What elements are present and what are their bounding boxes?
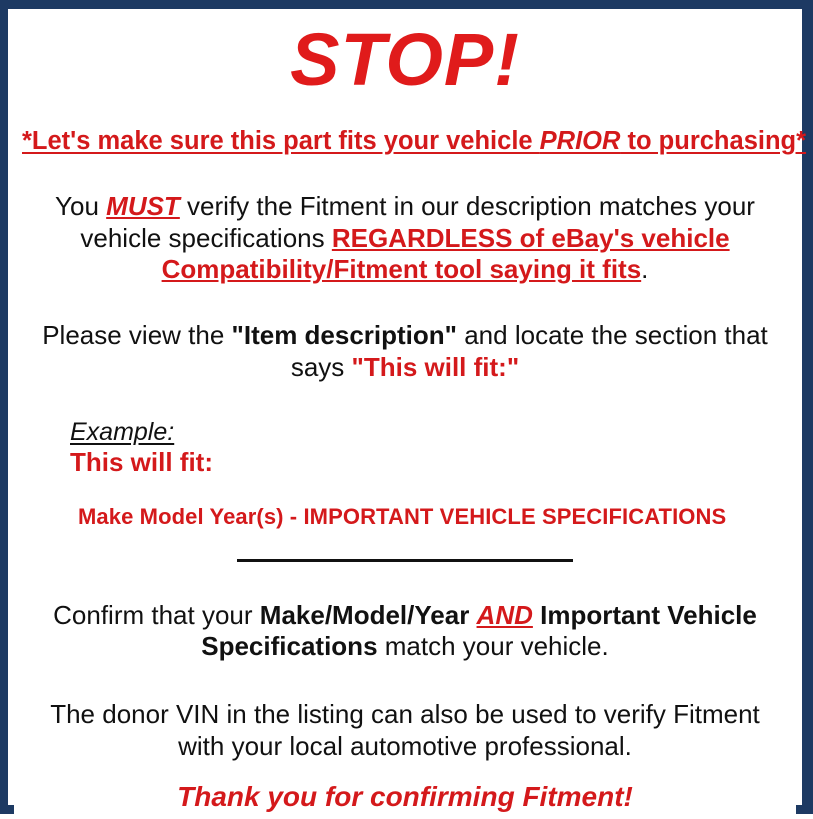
- example-spec-line: Make Model Year(s) - IMPORTANT VEHICLE S…: [78, 504, 788, 529]
- example-block: Example: This will fit: Make Model Year(…: [22, 418, 788, 530]
- paragraph-must-verify: You MUST verify the Fitment in our descr…: [22, 191, 788, 286]
- example-fit-heading: This will fit:: [70, 448, 788, 478]
- and-emphasis: AND: [477, 600, 533, 630]
- stop-headline: STOP!: [22, 23, 788, 97]
- confirm-text-part1: Confirm that your: [53, 600, 260, 630]
- must-text-part3: .: [641, 254, 648, 284]
- item-description-emphasis: "Item description": [232, 320, 457, 350]
- paragraph-confirm: Confirm that your Make/Model/Year AND Im…: [22, 600, 788, 663]
- subtitle-prefix: *Let's make sure this part fits your veh…: [22, 127, 540, 155]
- example-label: Example:: [70, 418, 788, 447]
- must-text-part1: You: [55, 191, 106, 221]
- paragraph-donor-vin: The donor VIN in the listing can also be…: [22, 699, 788, 762]
- view-text-part1: Please view the: [42, 320, 231, 350]
- horizontal-divider: [237, 559, 573, 562]
- make-model-year-emphasis: Make/Model/Year: [260, 600, 477, 630]
- must-emphasis: MUST: [106, 191, 180, 221]
- divider-wrap: [22, 552, 788, 572]
- this-will-fit-emphasis: "This will fit:": [352, 352, 520, 382]
- fitment-notice-card: STOP! *Let's make sure this part fits yo…: [0, 0, 813, 814]
- subtitle-line: *Let's make sure this part fits your veh…: [22, 127, 788, 155]
- thanks-line: Thank you for confirming Fitment!: [22, 780, 788, 814]
- subtitle-suffix: to purchasing*: [620, 127, 806, 155]
- confirm-text-part3: match your vehicle.: [378, 631, 609, 661]
- subtitle-emphasis-prior: PRIOR: [540, 127, 621, 155]
- paragraph-item-description: Please view the "Item description" and l…: [22, 320, 788, 383]
- notice-content: STOP! *Let's make sure this part fits yo…: [14, 23, 796, 819]
